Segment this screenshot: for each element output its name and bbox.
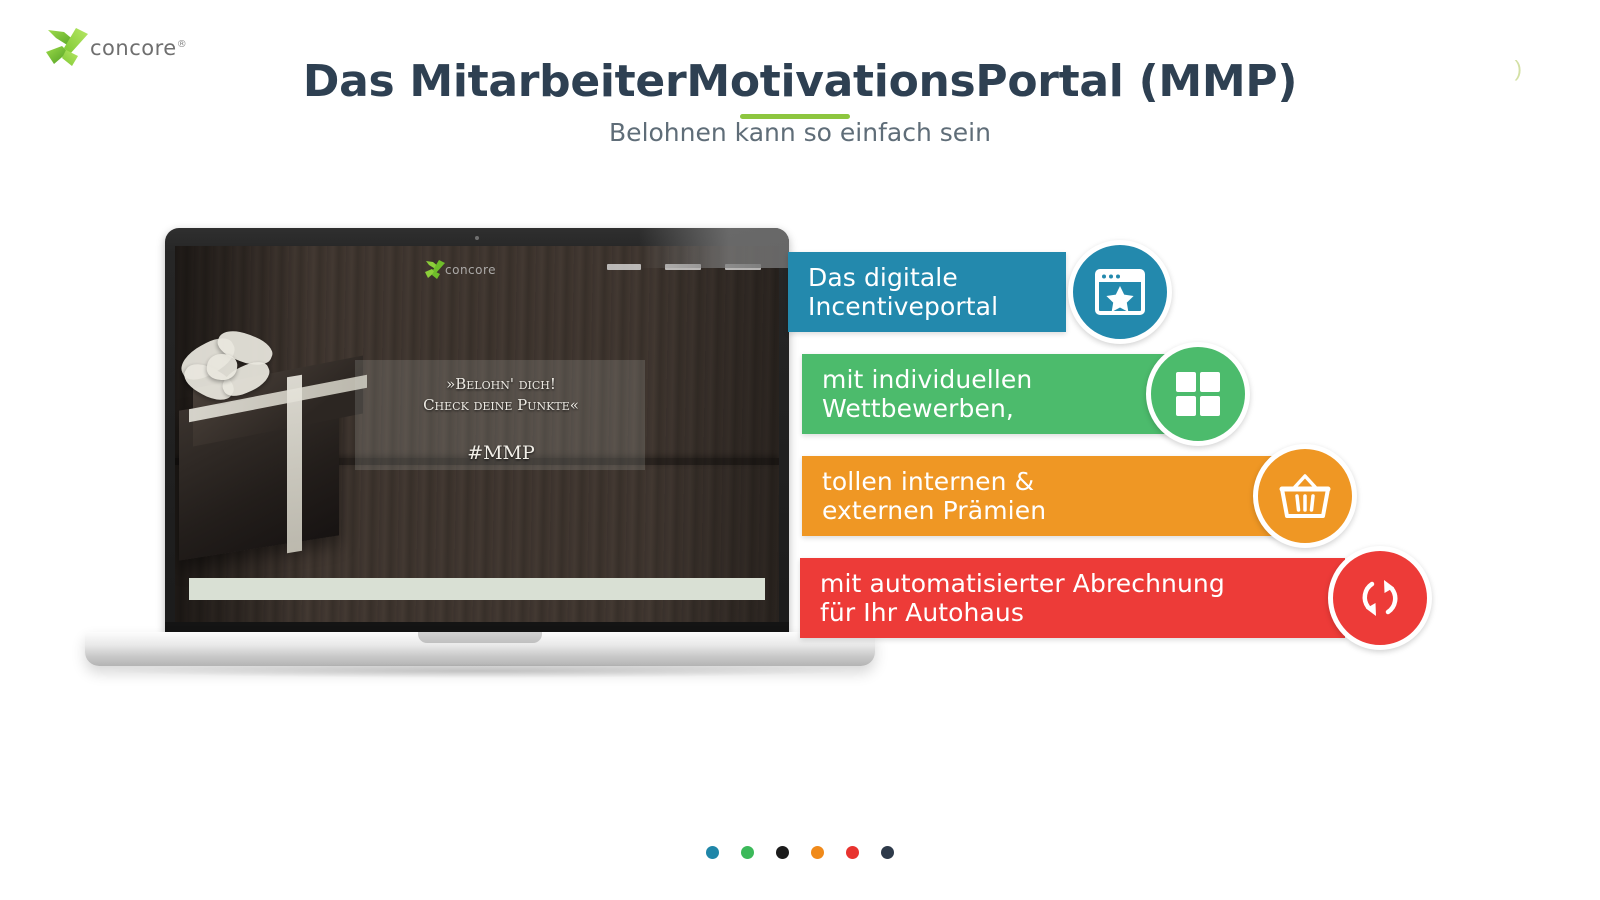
hero-caption-line1: »Belohn' dich! [351,374,651,395]
pagination-dot-1[interactable] [706,846,719,859]
site-logo[interactable]: concore [423,258,513,282]
site-logo-text: concore [445,263,496,277]
laptop-base [85,632,875,666]
hero-caption: »Belohn' dich! Check deine Punkte« [351,374,651,417]
feature-icon-circle-4[interactable] [1328,546,1432,650]
site-nav-item-2[interactable] [665,264,701,270]
pagination-dot-2[interactable] [741,846,754,859]
feature-icon-circle-3[interactable] [1253,444,1357,548]
laptop-mockup: concore [85,228,875,678]
feature-label-3: tollen internen & externen Prämien [822,467,1046,526]
pagination-dots[interactable] [0,846,1600,859]
feature-label-4: mit automatisierter Abrechnung für Ihr A… [820,569,1225,628]
corner-mark: ) [1515,56,1522,82]
page-title: Das MitarbeiterMotivationsPortal (MMP) [0,56,1600,107]
pagination-dot-4[interactable] [811,846,824,859]
slide: concore® Das MitarbeiterMotivationsPorta… [0,0,1600,900]
feature-bar-2[interactable]: mit individuellen Wettbewerben, [802,354,1172,434]
gift-bow [175,326,301,422]
pagination-dot-5[interactable] [846,846,859,859]
pagination-dot-6[interactable] [881,846,894,859]
laptop-shadow [115,664,845,678]
hero-hashtag: #MMP [351,442,651,464]
feature-bar-1[interactable]: Das digitale Incentiveportal [788,252,1066,332]
concore-x-logo-icon-small [423,259,447,281]
feature-item-1[interactable]: Das digitale Incentiveportal [788,252,1488,332]
hero-caption-line2: Check deine Punkte« [351,395,651,416]
site-nav-item-3[interactable] [725,264,761,270]
feature-label-1: Das digitale Incentiveportal [808,263,998,322]
site-footer-bar [189,578,765,600]
grid-four-squares-icon [1174,370,1222,418]
laptop-lid: concore [165,228,789,638]
laptop-notch [418,632,542,643]
brand-logo-registered: ® [177,39,188,50]
feature-item-2[interactable]: mit individuellen Wettbewerben, [788,354,1488,434]
feature-list: Das digitale Incentiveportal mit individ… [788,252,1488,660]
feature-icon-circle-2[interactable] [1146,342,1250,446]
site-nav-item-1[interactable] [607,264,641,270]
laptop-screen: concore [175,246,779,624]
feature-item-3[interactable]: tollen internen & externen Prämien [788,456,1488,536]
site-nav-items[interactable] [607,264,761,270]
site-navbar: concore [175,246,779,294]
feature-bar-4[interactable]: mit automatisierter Abrechnung für Ihr A… [800,558,1345,638]
feature-icon-circle-1[interactable] [1068,240,1172,344]
shopping-basket-icon [1278,471,1332,521]
feature-bar-3[interactable]: tollen internen & externen Prämien [802,456,1280,536]
pagination-dot-3[interactable] [776,846,789,859]
feature-item-4[interactable]: mit automatisierter Abrechnung für Ihr A… [788,558,1488,638]
webcam-dot-icon [475,236,479,240]
refresh-sync-icon [1354,572,1406,624]
feature-label-2: mit individuellen Wettbewerben, [822,365,1032,424]
browser-window-star-icon [1094,268,1146,316]
page-subtitle: Belohnen kann so einfach sein [0,118,1600,147]
